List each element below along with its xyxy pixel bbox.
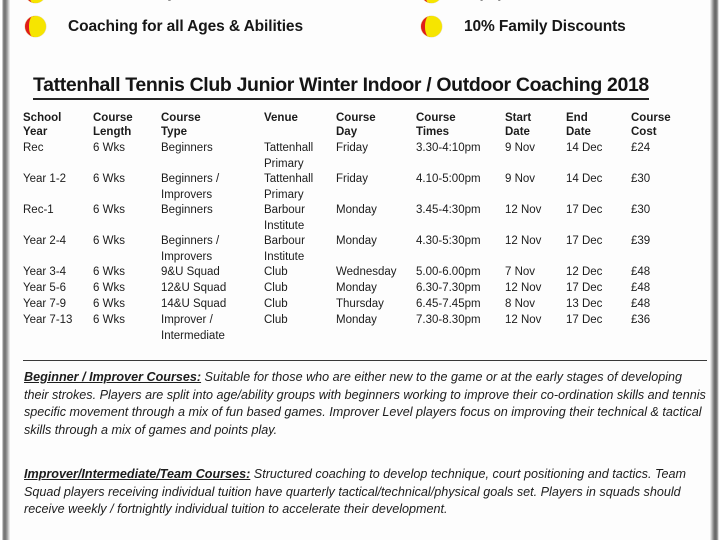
table-row: Year 3-4 6 Wks 9&U Squad Club Wednesday … (23, 265, 709, 281)
cell-course-day: Monday (336, 281, 416, 297)
column-header-course-day: Course Day (336, 112, 416, 141)
page-title: Tattenhall Tennis Club Junior Winter Ind… (33, 74, 649, 100)
cell-end-date: 17 Dec (566, 281, 631, 297)
cell-school-year: Year 7-9 (23, 297, 93, 313)
cell-start-date: 9 Nov (505, 141, 566, 157)
scan-edge-left (0, 0, 10, 540)
scanned-flyer-page: 24hr Mini Rally Awards Equipment Provide… (0, 0, 720, 540)
cell-course-day: Wednesday (336, 265, 416, 281)
feature-bullet-item: 10% Family Discounts (421, 16, 626, 37)
scan-edge-right (710, 0, 720, 540)
cell-course-times: 5.00-6.00pm (416, 265, 505, 281)
cell-course-cost: £48 (631, 297, 691, 313)
cell-course-times: 7.30-8.30pm (416, 313, 505, 329)
table-row: Year 7-9 6 Wks 14&U Squad Club Thursday … (23, 297, 709, 313)
cell-course-cost: £39 (631, 234, 691, 250)
column-header-course-cost: Course Cost (631, 112, 691, 141)
cell-start-date: 12 Nov (505, 313, 566, 329)
cell-course-day: Monday (336, 313, 416, 329)
cell-course-type: Beginners (161, 203, 264, 219)
cell-venue: Barbour Institute (264, 203, 336, 234)
cell-course-type: Improver / Intermediate (161, 313, 264, 344)
cell-start-date: 12 Nov (505, 203, 566, 219)
cell-start-date: 9 Nov (505, 172, 566, 188)
cell-end-date: 13 Dec (566, 297, 631, 313)
cell-course-day: Friday (336, 172, 416, 188)
cell-course-cost: £48 (631, 281, 691, 297)
cell-school-year: Rec (23, 141, 93, 157)
cell-venue: Club (264, 281, 336, 297)
cell-end-date: 14 Dec (566, 172, 631, 188)
column-header-start-date: Start Date (505, 112, 566, 141)
feature-bullet-item: 24hr Mini Rally Awards (25, 0, 235, 3)
cell-course-type: Beginners / Improvers (161, 234, 264, 265)
beginner-improver-description: Beginner / Improver Courses: Suitable fo… (24, 369, 708, 439)
cell-start-date: 7 Nov (505, 265, 566, 281)
cell-school-year: Year 7-13 (23, 313, 93, 329)
cell-venue: Club (264, 265, 336, 281)
cell-course-type: 14&U Squad (161, 297, 264, 313)
cell-end-date: 14 Dec (566, 141, 631, 157)
column-header-end-date: End Date (566, 112, 631, 141)
feature-bullet-label: Equipment Provided (464, 0, 613, 2)
cell-course-type: 9&U Squad (161, 265, 264, 281)
cell-course-type: Beginners (161, 141, 264, 157)
feature-bullet-label: Coaching for all Ages & Abilities (68, 18, 303, 36)
cell-school-year: Year 2-4 (23, 234, 93, 250)
cell-venue: Tattenhall Primary (264, 141, 336, 172)
cell-start-date: 12 Nov (505, 281, 566, 297)
cell-course-times: 3.45-4:30pm (416, 203, 505, 219)
description-heading: Improver/Intermediate/Team Courses: (24, 467, 250, 481)
table-row: Year 1-2 6 Wks Beginners / Improvers Tat… (23, 172, 709, 203)
cell-end-date: 12 Dec (566, 265, 631, 281)
cell-course-length: 6 Wks (93, 313, 161, 329)
page-content: 24hr Mini Rally Awards Equipment Provide… (11, 0, 709, 540)
cell-venue: Tattenhall Primary (264, 172, 336, 203)
cell-course-cost: £36 (631, 313, 691, 329)
cell-course-times: 6.45-7.45pm (416, 297, 505, 313)
cell-course-times: 4.30-5:30pm (416, 234, 505, 250)
column-header-course-length: Course Length (93, 112, 161, 141)
description-heading: Beginner / Improver Courses: (24, 370, 201, 384)
table-header-row: School Year Course Length Course Type Ve… (23, 112, 709, 141)
cell-venue: Club (264, 313, 336, 329)
cell-course-day: Friday (336, 141, 416, 157)
cell-course-length: 6 Wks (93, 281, 161, 297)
cell-start-date: 8 Nov (505, 297, 566, 313)
cell-course-length: 6 Wks (93, 141, 161, 157)
table-body: Rec 6 Wks Beginners Tattenhall Primary F… (23, 141, 709, 344)
course-schedule-table: School Year Course Length Course Type Ve… (23, 112, 709, 344)
cell-course-day: Thursday (336, 297, 416, 313)
cell-school-year: Year 1-2 (23, 172, 93, 188)
tennis-ball-icon (25, 16, 46, 37)
cell-course-times: 4.10-5:00pm (416, 172, 505, 188)
table-row: Rec 6 Wks Beginners Tattenhall Primary F… (23, 141, 709, 172)
cell-venue: Barbour Institute (264, 234, 336, 265)
cell-course-cost: £30 (631, 172, 691, 188)
cell-school-year: Year 5-6 (23, 281, 93, 297)
cell-course-length: 6 Wks (93, 265, 161, 281)
tennis-ball-icon (421, 16, 442, 37)
cell-course-day: Monday (336, 203, 416, 219)
cell-start-date: 12 Nov (505, 234, 566, 250)
cell-course-cost: £48 (631, 265, 691, 281)
feature-bullet-label: 10% Family Discounts (464, 18, 626, 36)
column-header-venue: Venue (264, 112, 336, 128)
table-row: Year 2-4 6 Wks Beginners / Improvers Bar… (23, 234, 709, 265)
table-row: Rec-1 6 Wks Beginners Barbour Institute … (23, 203, 709, 234)
column-header-school-year: School Year (23, 112, 93, 141)
cell-end-date: 17 Dec (566, 203, 631, 219)
improver-intermediate-team-description: Improver/Intermediate/Team Courses: Stru… (24, 466, 708, 519)
tennis-ball-icon (25, 0, 46, 3)
cell-course-cost: £30 (631, 203, 691, 219)
cell-school-year: Year 3-4 (23, 265, 93, 281)
cell-course-length: 6 Wks (93, 172, 161, 188)
cell-course-length: 6 Wks (93, 297, 161, 313)
feature-bullet-label: 24hr Mini Rally Awards (68, 0, 235, 2)
table-row: Year 7-13 6 Wks Improver / Intermediate … (23, 313, 709, 344)
cell-school-year: Rec-1 (23, 203, 93, 219)
cell-course-day: Monday (336, 234, 416, 250)
column-header-course-type: Course Type (161, 112, 264, 141)
table-row: Year 5-6 6 Wks 12&U Squad Club Monday 6.… (23, 281, 709, 297)
cell-course-type: 12&U Squad (161, 281, 264, 297)
cell-course-times: 6.30-7.30pm (416, 281, 505, 297)
cell-end-date: 17 Dec (566, 234, 631, 250)
feature-bullet-item: Coaching for all Ages & Abilities (25, 16, 303, 37)
cell-course-length: 6 Wks (93, 203, 161, 219)
tennis-ball-icon (421, 0, 442, 3)
cell-course-times: 3.30-4:10pm (416, 141, 505, 157)
cell-course-cost: £24 (631, 141, 691, 157)
column-header-course-times: Course Times (416, 112, 505, 141)
feature-bullet-list: 24hr Mini Rally Awards Equipment Provide… (11, 0, 709, 58)
feature-bullet-item: Equipment Provided (421, 0, 613, 3)
cell-course-length: 6 Wks (93, 234, 161, 250)
cell-end-date: 17 Dec (566, 313, 631, 329)
cell-venue: Club (264, 297, 336, 313)
section-divider (23, 360, 707, 361)
cell-course-type: Beginners / Improvers (161, 172, 264, 203)
